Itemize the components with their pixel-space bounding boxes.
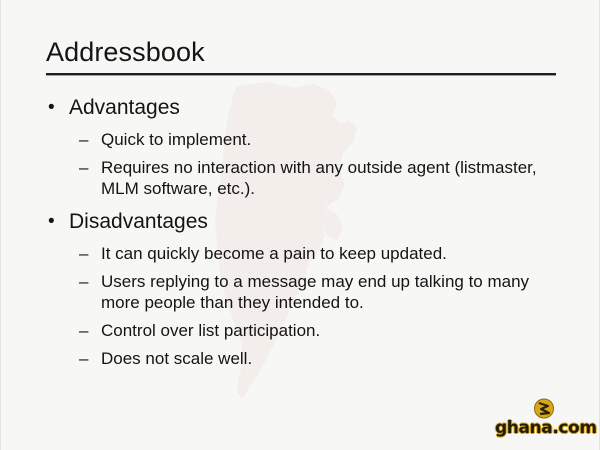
- ghana-com-logo: ghana.com: [495, 398, 593, 444]
- dash-icon: –: [79, 320, 88, 341]
- bullet-dot-icon: •: [48, 96, 55, 119]
- bullet-disadvantages-label: Disadvantages: [69, 210, 208, 233]
- bullet-advantages-label: Advantages: [69, 96, 180, 119]
- dash-icon: –: [79, 348, 88, 369]
- list-item: – Users replying to a message may end up…: [46, 271, 566, 313]
- title-block: Addressbook: [46, 38, 558, 76]
- bullet-disadvantages: • Disadvantages: [46, 210, 566, 235]
- list-item-text: Requires no interaction with any outside…: [101, 157, 556, 199]
- list-item-text: Does not scale well.: [101, 348, 556, 369]
- list-item: – It can quickly become a pain to keep u…: [46, 243, 566, 264]
- list-item: – Does not scale well.: [46, 348, 566, 369]
- list-item: – Control over list participation.: [46, 320, 566, 341]
- list-item-text: Users replying to a message may end up t…: [101, 271, 556, 313]
- dash-icon: –: [79, 271, 88, 292]
- list-item-text: Control over list participation.: [101, 320, 556, 341]
- slide-body: • Advantages – Quick to implement. – Req…: [46, 96, 566, 371]
- ghana-com-logo-text: ghana.com: [495, 420, 593, 437]
- dash-icon: –: [79, 129, 88, 150]
- list-item-text: It can quickly become a pain to keep upd…: [101, 243, 556, 264]
- slide-canvas: Addressbook • Advantages – Quick to impl…: [0, 0, 600, 450]
- list-item: – Quick to implement.: [46, 129, 566, 150]
- spacer: [46, 201, 566, 210]
- gold-adinkra-emblem: [533, 398, 555, 419]
- dash-icon: –: [79, 243, 88, 264]
- list-item: – Requires no interaction with any outsi…: [46, 157, 566, 199]
- bullet-dot-icon: •: [48, 210, 55, 233]
- list-item-text: Quick to implement.: [101, 129, 556, 150]
- dash-icon: –: [79, 157, 88, 178]
- bullet-advantages: • Advantages: [46, 96, 566, 121]
- title-divider: [46, 73, 556, 76]
- page-title: Addressbook: [46, 38, 558, 67]
